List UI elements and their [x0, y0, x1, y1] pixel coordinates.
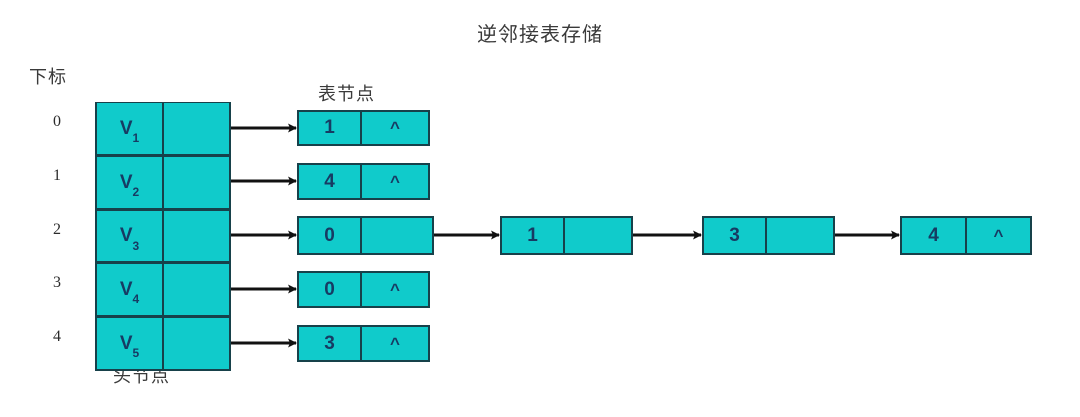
null-pointer-marker: ^	[994, 226, 1004, 246]
head-pointer-cell-0[interactable]	[163, 102, 231, 156]
list-node-r2-n3-next[interactable]: ^	[966, 216, 1032, 255]
subscript-caption: 下标	[29, 63, 67, 89]
null-pointer-marker: ^	[390, 280, 400, 300]
null-pointer-marker: ^	[390, 172, 400, 192]
node-data-value: 1	[324, 117, 335, 139]
list-node-r2-n2-data[interactable]: 3	[702, 216, 766, 255]
node-data-value: 0	[324, 225, 335, 247]
index-label-2: 2	[44, 221, 70, 239]
list-node-r0-n0-next[interactable]: ^	[361, 110, 430, 146]
list-node-r3-n0-data[interactable]: 0	[297, 271, 361, 308]
node-data-value: 0	[324, 279, 335, 301]
list-node-r2-n1-next[interactable]	[564, 216, 633, 255]
node-data-value: 3	[324, 333, 335, 355]
list-node-r2-n1-data[interactable]: 1	[500, 216, 564, 255]
list-node-r3-n0-next[interactable]: ^	[361, 271, 430, 308]
node-data-value: 1	[527, 225, 538, 247]
list-node-r2-n0-next[interactable]	[361, 216, 434, 255]
list-node-r2-n2-next[interactable]	[766, 216, 835, 255]
head-pointer-cell-3[interactable]	[163, 263, 231, 317]
list-node-r4-n0-next[interactable]: ^	[361, 325, 430, 362]
head-vertex-cell-2[interactable]: V3	[95, 210, 163, 263]
list-node-r1-n0-data[interactable]: 4	[297, 163, 361, 200]
head-vertex-cell-3[interactable]: V4	[95, 263, 163, 317]
head-pointer-cell-4[interactable]	[163, 317, 231, 371]
vertex-label-0: V1	[120, 118, 139, 140]
index-label-4: 4	[44, 328, 70, 346]
node-data-value: 4	[928, 225, 939, 247]
vertex-label-2: V3	[120, 225, 139, 247]
head-vertex-cell-4[interactable]: V5	[95, 317, 163, 371]
head-vertex-cell-0[interactable]: V1	[95, 102, 163, 156]
index-label-3: 3	[44, 274, 70, 292]
list-node-r4-n0-data[interactable]: 3	[297, 325, 361, 362]
head-pointer-cell-2[interactable]	[163, 210, 231, 263]
vertex-label-1: V2	[120, 172, 139, 194]
index-label-1: 1	[44, 167, 70, 185]
diagram-canvas: 逆邻接表存储 下标 头节点 表节点 0 1 2 3 4 V1 V2 V3 V4 …	[0, 0, 1080, 417]
list-node-r2-n0-data[interactable]: 0	[297, 216, 361, 255]
null-pointer-marker: ^	[390, 118, 400, 138]
list-node-r0-n0-data[interactable]: 1	[297, 110, 361, 146]
vertex-label-3: V4	[120, 279, 139, 301]
head-vertex-cell-1[interactable]: V2	[95, 156, 163, 210]
page-title: 逆邻接表存储	[0, 18, 1080, 47]
index-label-0: 0	[44, 113, 70, 131]
node-data-value: 3	[729, 225, 740, 247]
vertex-label-4: V5	[120, 333, 139, 355]
node-data-value: 4	[324, 171, 335, 193]
list-node-r2-n3-data[interactable]: 4	[900, 216, 966, 255]
null-pointer-marker: ^	[390, 334, 400, 354]
list-node-caption: 表节点	[318, 80, 375, 106]
list-node-r1-n0-next[interactable]: ^	[361, 163, 430, 200]
head-pointer-cell-1[interactable]	[163, 156, 231, 210]
